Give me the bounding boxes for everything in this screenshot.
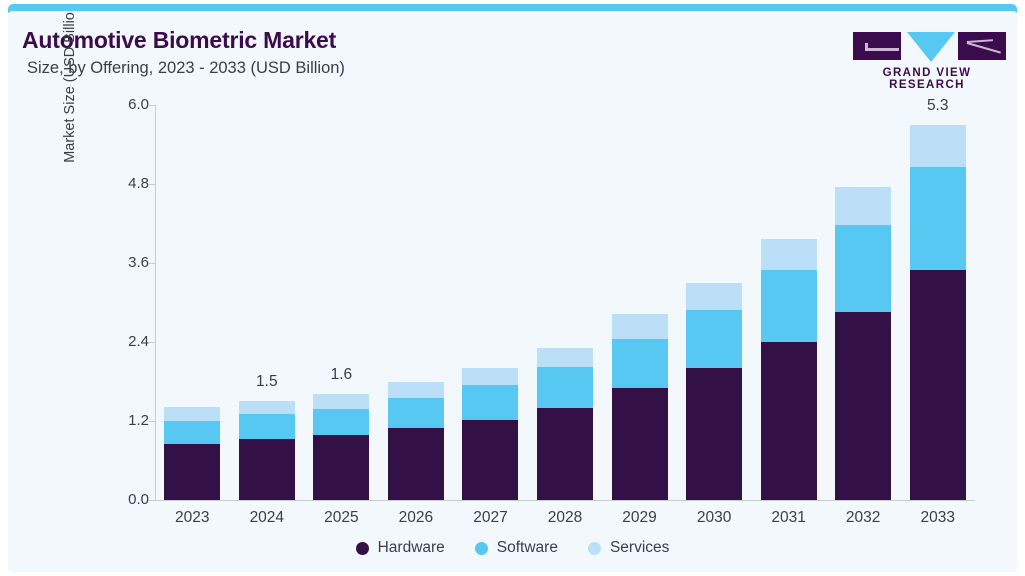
plot-area: Market Size (USD Billion) 0.01.22.43.64.…	[8, 11, 1017, 572]
bar-segment-hardware[interactable]	[835, 312, 891, 500]
bar-column[interactable]	[462, 368, 518, 500]
bar-segment-services[interactable]	[910, 125, 966, 167]
bar-segment-hardware[interactable]	[239, 439, 295, 500]
legend-label: Hardware	[378, 539, 445, 557]
bar-column[interactable]	[761, 239, 817, 500]
bar-segment-services[interactable]	[313, 394, 369, 408]
chart-legend: HardwareSoftwareServices	[8, 539, 1017, 557]
bar-value-label: 1.5	[227, 373, 307, 391]
chart-panel: Automotive Biometric Market Size, by Off…	[8, 11, 1017, 572]
bar-column[interactable]	[612, 314, 668, 500]
chart-card: Automotive Biometric Market Size, by Off…	[0, 0, 1025, 576]
bar-column[interactable]	[164, 407, 220, 500]
legend-swatch-icon	[588, 542, 601, 555]
bar-segment-software[interactable]	[239, 414, 295, 438]
bar-segment-software[interactable]	[761, 270, 817, 342]
bar-segment-services[interactable]	[686, 283, 742, 310]
bar-segment-services[interactable]	[761, 239, 817, 270]
x-axis-tick-label: 2026	[376, 509, 456, 527]
x-axis-tick-label: 2029	[600, 509, 680, 527]
x-axis-tick-label: 2028	[525, 509, 605, 527]
bar-group	[155, 105, 975, 500]
bar-segment-hardware[interactable]	[388, 428, 444, 500]
x-axis-line	[155, 500, 975, 501]
y-axis-tick-label: 4.8	[104, 175, 149, 192]
bar-column[interactable]	[239, 401, 295, 500]
bar-segment-software[interactable]	[164, 421, 220, 444]
y-axis-tick-label: 0.0	[104, 491, 149, 508]
y-axis-tick-mark	[149, 500, 155, 501]
bar-column[interactable]	[537, 348, 593, 500]
bar-segment-hardware[interactable]	[612, 388, 668, 500]
legend-item-services[interactable]: Services	[588, 539, 669, 557]
bar-segment-hardware[interactable]	[313, 435, 369, 500]
bar-value-label: 5.3	[898, 97, 978, 115]
bar-value-label: 1.6	[301, 366, 381, 384]
bar-segment-hardware[interactable]	[537, 408, 593, 500]
bar-segment-software[interactable]	[537, 367, 593, 408]
legend-label: Services	[610, 539, 669, 557]
bar-column[interactable]	[388, 382, 444, 500]
bar-segment-software[interactable]	[612, 339, 668, 388]
legend-swatch-icon	[356, 542, 369, 555]
y-axis-title: Market Size (USD Billion)	[62, 11, 78, 196]
bar-segment-hardware[interactable]	[910, 270, 966, 500]
bar-segment-hardware[interactable]	[462, 420, 518, 500]
x-axis-tick-label: 2024	[227, 509, 307, 527]
x-axis-tick-label: 2025	[301, 509, 381, 527]
bar-segment-services[interactable]	[537, 348, 593, 367]
y-axis-tick-label: 1.2	[104, 412, 149, 429]
bar-segment-software[interactable]	[388, 398, 444, 428]
legend-item-software[interactable]: Software	[475, 539, 558, 557]
bar-column[interactable]	[686, 283, 742, 500]
x-axis-tick-label: 2030	[674, 509, 754, 527]
x-axis-tick-label: 2031	[749, 509, 829, 527]
legend-label: Software	[497, 539, 558, 557]
bar-segment-software[interactable]	[462, 385, 518, 420]
bar-segment-hardware[interactable]	[761, 342, 817, 500]
bar-segment-services[interactable]	[612, 314, 668, 339]
bar-segment-software[interactable]	[313, 409, 369, 435]
bar-segment-services[interactable]	[835, 187, 891, 225]
bar-segment-hardware[interactable]	[686, 368, 742, 500]
y-axis-tick-label: 6.0	[104, 96, 149, 113]
bar-segment-services[interactable]	[462, 368, 518, 386]
x-axis-tick-label: 2033	[898, 509, 978, 527]
bar-segment-software[interactable]	[835, 225, 891, 313]
bar-column[interactable]	[835, 187, 891, 500]
x-axis-tick-label: 2032	[823, 509, 903, 527]
x-axis-tick-label: 2027	[450, 509, 530, 527]
x-axis-tick-label: 2023	[152, 509, 232, 527]
legend-swatch-icon	[475, 542, 488, 555]
bar-column[interactable]	[313, 394, 369, 500]
y-axis-tick-label: 3.6	[104, 254, 149, 271]
bar-segment-services[interactable]	[239, 401, 295, 415]
bar-column[interactable]	[910, 125, 966, 500]
bar-segment-services[interactable]	[164, 407, 220, 421]
bar-segment-hardware[interactable]	[164, 444, 220, 500]
y-axis-tick-label: 2.4	[104, 333, 149, 350]
legend-item-hardware[interactable]: Hardware	[356, 539, 445, 557]
bar-segment-software[interactable]	[686, 310, 742, 368]
bar-segment-services[interactable]	[388, 382, 444, 398]
bar-segment-software[interactable]	[910, 167, 966, 270]
